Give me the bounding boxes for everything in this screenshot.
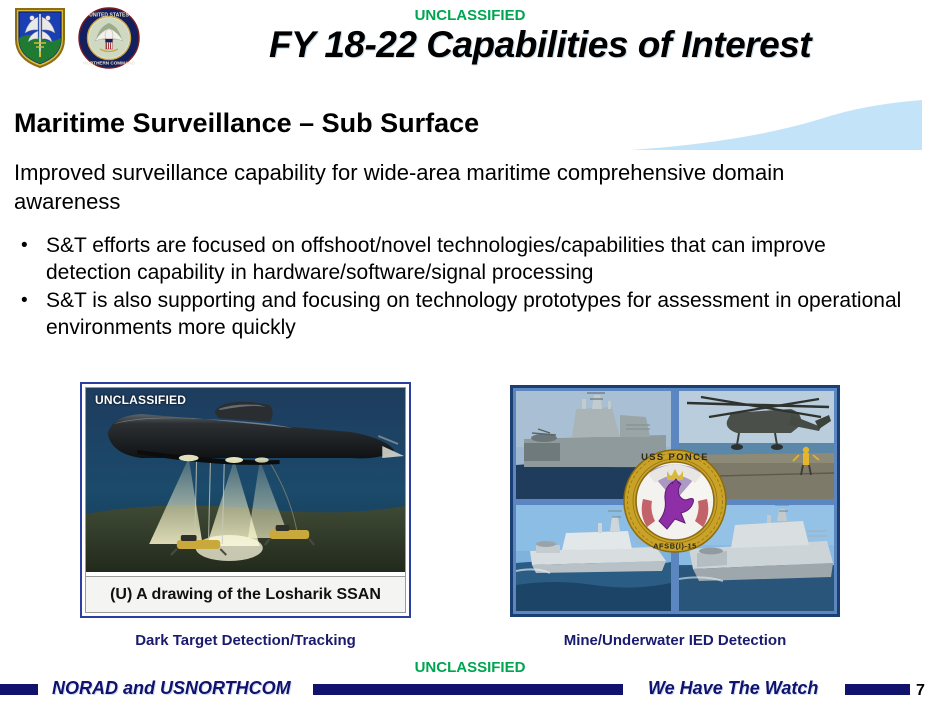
page-title: FY 18-22 Capabilities of Interest bbox=[150, 24, 930, 66]
svg-text:USS PONCE: USS PONCE bbox=[641, 451, 709, 462]
footer-bar-center bbox=[313, 684, 623, 695]
classification-marking-bottom: UNCLASSIFIED bbox=[0, 659, 940, 676]
list-item: • S&T efforts are focused on offshoot/no… bbox=[14, 232, 909, 286]
footer-motto-text: We Have The Watch bbox=[648, 678, 818, 699]
lead-paragraph: Improved surveillance capability for wid… bbox=[14, 158, 874, 216]
submarine-illustration bbox=[86, 388, 405, 572]
footer-organization-text: NORAD and USNORTHCOM bbox=[52, 678, 291, 699]
list-item-text: S&T is also supporting and focusing on t… bbox=[46, 289, 901, 339]
figure-caption-submarine: (U) A drawing of the Losharik SSAN bbox=[86, 576, 405, 612]
bullet-list: • S&T efforts are focused on offshoot/no… bbox=[14, 232, 909, 342]
bullet-glyph: • bbox=[21, 232, 28, 259]
footer-bar-left bbox=[0, 684, 38, 695]
list-item-text: S&T efforts are focused on offshoot/nove… bbox=[46, 234, 826, 284]
figure-label-dark-target: Dark Target Detection/Tracking bbox=[80, 632, 411, 649]
uss-ponce-seal: USS PONCE AFSB(I)-15 bbox=[623, 449, 727, 553]
svg-text:NORTHERN COMMAND: NORTHERN COMMAND bbox=[83, 60, 135, 65]
section-heading: Maritime Surveillance – Sub Surface bbox=[14, 108, 479, 139]
image-classification-marking: UNCLASSIFIED bbox=[95, 393, 186, 407]
figure-collage: USS PONCE AFSB(I)-15 bbox=[510, 385, 840, 617]
figure-submarine-frame: UNCLASSIFIED (U) A drawing of the Loshar… bbox=[85, 387, 406, 613]
classification-marking-top: UNCLASSIFIED bbox=[0, 7, 940, 24]
list-item: • S&T is also supporting and focusing on… bbox=[14, 287, 909, 341]
page-number: 7 bbox=[916, 682, 925, 700]
figure-submarine: UNCLASSIFIED (U) A drawing of the Loshar… bbox=[80, 382, 411, 618]
swoosh-decoration bbox=[630, 98, 922, 150]
footer-bar-right bbox=[845, 684, 910, 695]
bullet-glyph: • bbox=[21, 287, 28, 314]
svg-text:AFSB(I)-15: AFSB(I)-15 bbox=[653, 542, 697, 551]
figure-label-mine-detection: Mine/Underwater IED Detection bbox=[510, 632, 840, 649]
slide-footer: NORAD and USNORTHCOM We Have The Watch 7 bbox=[0, 678, 940, 704]
slide-header: UNITED STATES NORTHERN COMMAND UNCLASSIF… bbox=[0, 0, 940, 95]
